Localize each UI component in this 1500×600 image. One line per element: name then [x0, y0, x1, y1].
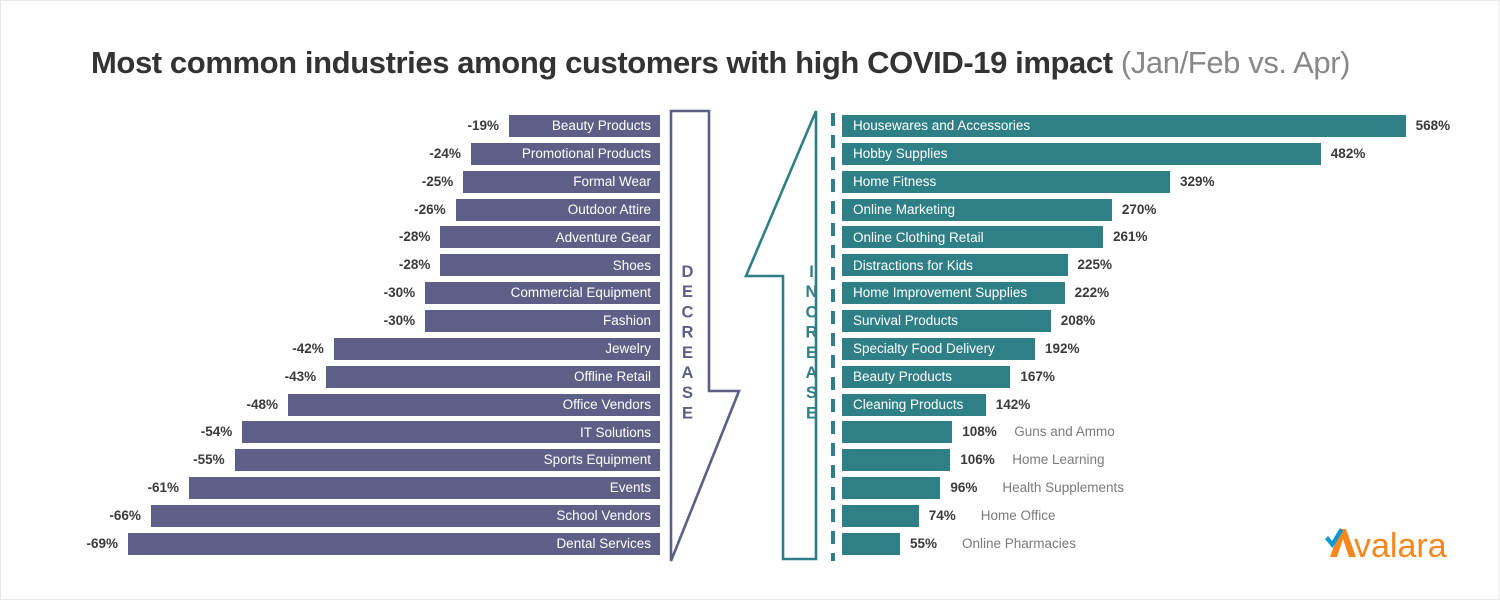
avalara-logo: valara [1316, 519, 1456, 567]
increase-bar-value: 74% [929, 505, 956, 527]
decrease-bar-label: Outdoor Attire [568, 203, 651, 217]
decrease-axis-label: DECREASE [679, 263, 696, 425]
decrease-bar-value: -42% [244, 338, 324, 360]
increase-bar-value: 270% [1122, 199, 1157, 221]
decrease-bar-label: Adventure Gear [556, 231, 651, 245]
decrease-bar-value: -48% [198, 394, 278, 416]
decrease-bar[interactable]: Jewelry [334, 338, 660, 360]
increase-bar[interactable]: Housewares and Accessories [842, 115, 1406, 137]
increase-bar-label: Distractions for Kids [853, 259, 973, 273]
decrease-bar[interactable]: Shoes [440, 254, 660, 276]
svg-text:valara: valara [1354, 527, 1447, 565]
increase-bar-label: Online Marketing [853, 203, 955, 217]
decrease-bar[interactable]: School Vendors [151, 505, 660, 527]
decrease-bar[interactable]: Adventure Gear [440, 226, 660, 248]
decrease-bar[interactable]: Sports Equipment [235, 449, 660, 471]
increase-bar-label: Beauty Products [853, 370, 952, 384]
increase-bar[interactable]: Survival Products [842, 310, 1051, 332]
increase-bar-value: 55% [910, 533, 937, 555]
decrease-bar-value: -28% [350, 226, 430, 248]
dashed-divider [831, 113, 835, 561]
increase-bar[interactable] [842, 449, 950, 471]
decrease-bar[interactable]: Promotional Products [471, 143, 660, 165]
increase-bar-value: 108% [962, 421, 997, 443]
increase-bar-label: Hobby Supplies [853, 147, 948, 161]
decrease-bar[interactable]: Dental Services [128, 533, 660, 555]
decrease-bar-label: Shoes [613, 259, 651, 273]
increase-bar-value: 142% [996, 394, 1031, 416]
decrease-bar[interactable]: Formal Wear [463, 171, 660, 193]
increase-bar[interactable] [842, 505, 919, 527]
decrease-bar-label: Fashion [603, 314, 651, 328]
decrease-bar-label: Events [610, 481, 651, 495]
increase-bar-value: 329% [1180, 171, 1215, 193]
increase-bar-value: 192% [1045, 338, 1080, 360]
decrease-bar[interactable]: Offline Retail [326, 366, 660, 388]
decrease-bar-value: -43% [236, 366, 316, 388]
increase-bar-value: 208% [1061, 310, 1096, 332]
decrease-bar-value: -55% [145, 449, 225, 471]
increase-bar-value: 568% [1416, 115, 1451, 137]
decrease-bar-value: -26% [366, 199, 446, 221]
decrease-bar-label: Commercial Equipment [511, 286, 651, 300]
decrease-bar-value: -61% [99, 477, 179, 499]
increase-bar-label: Home Fitness [853, 175, 936, 189]
decrease-bar-value: -54% [152, 421, 232, 443]
decrease-bar-value: -69% [38, 533, 118, 555]
increase-bar[interactable]: Home Improvement Supplies [842, 282, 1065, 304]
decrease-bar-value: -25% [373, 171, 453, 193]
decrease-bar-value: -30% [335, 282, 415, 304]
increase-bar[interactable]: Hobby Supplies [842, 143, 1321, 165]
increase-bar-outside-label: Online Pharmacies [962, 533, 1076, 555]
increase-bar-value: 222% [1075, 282, 1110, 304]
increase-bar-outside-label: Health Supplements [1002, 477, 1124, 499]
increase-bar[interactable]: Home Fitness [842, 171, 1170, 193]
chart-page: Most common industries among customers w… [0, 0, 1500, 600]
decrease-bar-label: Beauty Products [552, 119, 651, 133]
increase-bar[interactable] [842, 421, 952, 443]
decrease-bar-value: -66% [61, 505, 141, 527]
increase-bar-outside-label: Guns and Ammo [1014, 421, 1115, 443]
decrease-bar-label: Office Vendors [563, 398, 651, 412]
decrease-bar-label: Formal Wear [573, 175, 651, 189]
increase-bar[interactable]: Beauty Products [842, 366, 1010, 388]
increase-bar[interactable]: Online Clothing Retail [842, 226, 1103, 248]
decrease-bar[interactable]: Beauty Products [509, 115, 660, 137]
increase-bar-label: Home Improvement Supplies [853, 286, 1027, 300]
increase-bar-value: 482% [1331, 143, 1366, 165]
increase-bar-outside-label: Home Office [981, 505, 1056, 527]
decrease-bar[interactable]: Commercial Equipment [425, 282, 660, 304]
chart-plot-area: Beauty Products-19%Promotional Products-… [1, 112, 1500, 562]
decrease-bar-value: -24% [381, 143, 461, 165]
page-title-sub: (Jan/Feb vs. Apr) [1113, 45, 1350, 80]
increase-bar[interactable] [842, 533, 900, 555]
decrease-bar-label: Jewelry [605, 342, 651, 356]
decrease-bar-label: School Vendors [556, 509, 651, 523]
increase-bar-outside-label: Home Learning [1012, 449, 1104, 471]
page-title: Most common industries among customers w… [91, 45, 1350, 81]
decrease-bar-label: Dental Services [556, 537, 651, 551]
increase-bar-value: 225% [1078, 254, 1113, 276]
decrease-bar[interactable]: Office Vendors [288, 394, 660, 416]
decrease-bar[interactable]: IT Solutions [242, 421, 660, 443]
decrease-bar-value: -19% [419, 115, 499, 137]
increase-bar[interactable]: Distractions for Kids [842, 254, 1068, 276]
increase-bar-value: 96% [950, 477, 977, 499]
increase-bar[interactable] [842, 477, 940, 499]
increase-bar-label: Online Clothing Retail [853, 231, 984, 245]
decrease-bar-label: Promotional Products [522, 147, 651, 161]
decrease-bar-value: -28% [350, 254, 430, 276]
increase-bar-value: 167% [1020, 366, 1055, 388]
increase-bar[interactable]: Online Marketing [842, 199, 1112, 221]
decrease-bar[interactable]: Outdoor Attire [456, 199, 660, 221]
decrease-bar[interactable]: Events [189, 477, 660, 499]
increase-bar-label: Specialty Food Delivery [853, 342, 995, 356]
decrease-bar-label: Offline Retail [574, 370, 651, 384]
increase-bar-value: 261% [1113, 226, 1148, 248]
decrease-bar[interactable]: Fashion [425, 310, 660, 332]
increase-axis-label: INCREASE [803, 263, 820, 425]
decrease-bar-label: IT Solutions [580, 426, 651, 440]
increase-bar-label: Cleaning Products [853, 398, 963, 412]
increase-bar-value: 106% [960, 449, 995, 471]
increase-bar[interactable]: Cleaning Products [842, 394, 986, 416]
page-title-main: Most common industries among customers w… [91, 45, 1113, 80]
increase-bar-label: Housewares and Accessories [853, 119, 1030, 133]
increase-bar-label: Survival Products [853, 314, 958, 328]
decrease-bar-label: Sports Equipment [544, 453, 651, 467]
increase-bar[interactable]: Specialty Food Delivery [842, 338, 1035, 360]
decrease-bar-value: -30% [335, 310, 415, 332]
